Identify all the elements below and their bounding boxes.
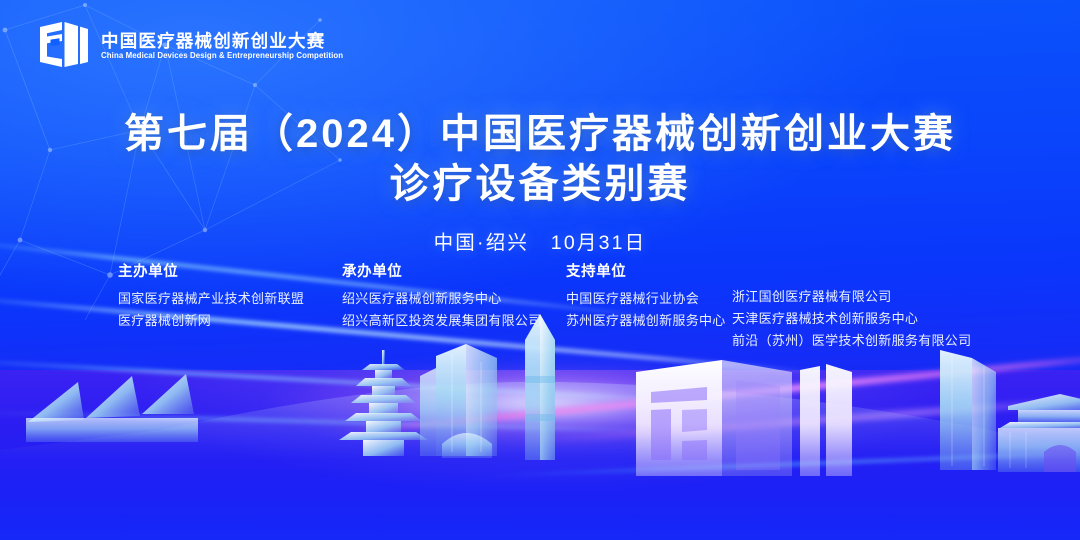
sponsor-heading: 主办单位 xyxy=(118,265,342,280)
sponsor-column-support-overflow: 浙江国创医疗器械有限公司 天津医疗器械技术创新服务中心 前沿（苏州）医学技术创新… xyxy=(732,265,971,352)
competition-door-logo-icon xyxy=(38,21,90,69)
event-location-date: 中国·绍兴 10月31日 xyxy=(0,226,1080,255)
title-block: 第七届（2024）中国医疗器械创新创业大赛 诊疗设备类别赛 中国·绍兴 10月3… xyxy=(0,108,1080,255)
sponsor-item: 绍兴高新区投资发展集团有限公司 xyxy=(342,310,566,332)
sponsor-item: 天津医疗器械技术创新服务中心 xyxy=(732,308,971,330)
light-streak xyxy=(475,449,1080,478)
light-streak xyxy=(0,410,670,433)
competition-logo-monument xyxy=(636,360,852,476)
magenta-streak xyxy=(326,349,1080,437)
sponsor-column-organizer: 主办单位 国家医疗器械产业技术创新联盟 医疗器械创新网 xyxy=(118,265,342,332)
center-glow xyxy=(260,358,820,448)
sponsor-item: 绍兴医疗器械创新服务中心 xyxy=(342,288,566,310)
logo-title-cn: 中国医疗器械创新创业大赛 xyxy=(101,33,351,51)
page-subtitle: 诊疗设备类别赛 xyxy=(0,162,1080,207)
pagoda xyxy=(339,350,428,456)
sponsor-item: 医疗器械创新网 xyxy=(118,310,342,332)
sponsor-item: 浙江国创医疗器械有限公司 xyxy=(732,286,971,308)
sponsor-column-host: 承办单位 绍兴医疗器械创新服务中心 绍兴高新区投资发展集团有限公司 xyxy=(342,265,566,332)
twin-office-towers xyxy=(420,344,497,458)
sponsor-heading: 支持单位 xyxy=(566,265,732,280)
sponsor-item: 苏州医疗器械创新服务中心 xyxy=(566,310,732,332)
ground-plane xyxy=(0,370,1080,540)
light-streak xyxy=(0,356,755,406)
brand-header: 中国医疗器械创新创业大赛 China Medical Devices Desig… xyxy=(38,21,351,69)
event-banner: 中国医疗器械创新创业大赛 China Medical Devices Desig… xyxy=(0,0,1080,540)
logo-title-en: China Medical Devices Design & Entrepren… xyxy=(101,52,343,60)
sail-pavilion xyxy=(26,374,198,442)
glass-tower xyxy=(940,350,996,470)
sponsor-item: 前沿（苏州）医学技术创新服务有限公司 xyxy=(732,330,971,352)
sponsor-section: 主办单位 国家医疗器械产业技术创新联盟 医疗器械创新网 承办单位 绍兴医疗器械创… xyxy=(0,265,1080,352)
sponsor-item: 国家医疗器械产业技术创新联盟 xyxy=(118,288,342,310)
sponsor-column-support: 支持单位 中国医疗器械行业协会 苏州医疗器械创新服务中心 xyxy=(566,265,732,332)
magenta-streak xyxy=(498,394,1080,445)
sponsor-heading: 承办单位 xyxy=(342,265,566,280)
chinese-gate-tower xyxy=(998,394,1080,472)
page-title: 第七届（2024）中国医疗器械创新创业大赛 xyxy=(0,108,1080,162)
sponsor-item: 中国医疗器械行业协会 xyxy=(566,288,732,310)
